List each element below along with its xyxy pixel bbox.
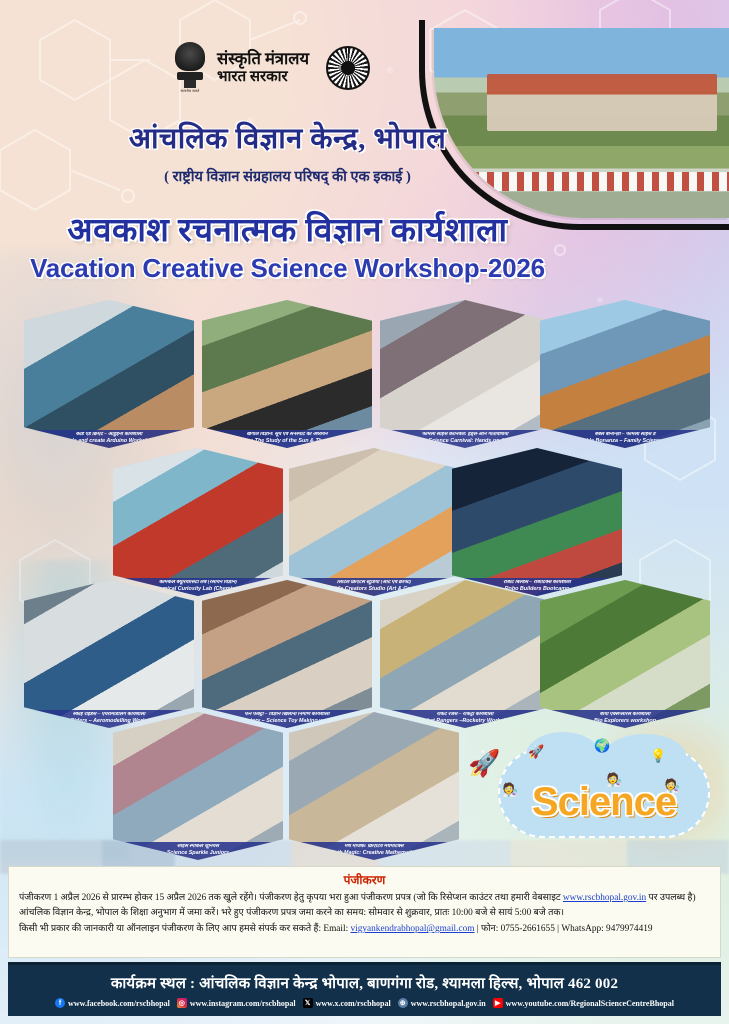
workshop-tile[interactable]: फैमिली साइंस कार्निवल: हैंड्स-ऑन गतिविधि… [380,300,550,448]
social-link-website[interactable]: ⊕ www.rscbhopal.gov.in [398,998,486,1008]
workshop-tile[interactable]: कोड एंड क्रिएट – आर्डुइनो कार्यशाला Code… [24,300,194,448]
facebook-url: www.facebook.com/rscbhopal [68,999,170,1008]
rocket-icon: 🚀 [468,748,500,779]
youtube-url: www.youtube.com/RegionalScienceCentreBho… [506,999,674,1008]
facebook-icon: f [55,998,65,1008]
workshop-tile[interactable]: मैथ मैजिक: क्रिएटिव मैथमेटिक्स Math Magi… [289,712,459,860]
whatsapp-label: WhatsApp: 9479974419 [561,924,652,934]
workshop-tile[interactable]: लिटिल क्रिएटर्स स्टूडियो (आर्ट एवं क्राफ… [289,448,459,596]
scientist-kid-icon: 🧑‍🔬 [502,782,518,798]
scientist-kid-icon: 🧑‍🔬 [664,778,680,794]
poster-footer: कार्यक्रम स्थल : आंचलिक विज्ञान केन्द्र … [8,962,721,1016]
ministry-branding: सत्यमेव जयते संस्कृति मंत्रालय भारत सरका… [172,42,370,94]
poster-header: सत्यमेव जयते संस्कृति मंत्रालय भारत सरका… [0,0,729,300]
workshop-tile[interactable]: रोबोट बिल्डर्स – रोबोटिक्स कार्यशाला Rob… [452,448,622,596]
workshop-tile[interactable]: केमिकल क्यूरियोसिटी लैब (रसायन विज्ञान) … [113,448,283,596]
workshop-caption-english: Bio Explorers workshop [544,718,706,724]
workshop-caption-english: Family Science Carnival: Hands on Activi… [384,438,546,444]
workshop-caption-english: Science Sparkle Juniors [117,850,279,856]
rocket-icon: 🚀 [528,744,544,760]
registration-paragraph-2: किसी भी प्रकार की जानकारी या ऑनलाइन पंजी… [19,922,710,937]
workshop-title-english: Vacation Creative Science Workshop-2026 [0,253,575,284]
workshop-caption-hindi: कोड एंड क्रिएट – आर्डुइनो कार्यशाला [28,432,190,438]
workshop-caption-hindi: मैथ मैजिक: क्रिएटिव मैथमेटिक्स [293,844,455,850]
website-globe-icon: ⊕ [398,998,408,1008]
x-twitter-icon: 𝕏 [303,998,313,1008]
workshop-caption-english: Astronomy: The Study of the Sun & The Su… [206,438,368,444]
registration-text-1a: पंजीकरण 1 अप्रैल 2026 से प्रारम्भ होकर 1… [19,893,563,903]
workshop-tile[interactable]: स्काई राइडर्स – एयरोमॉडलिंग कार्यशाला Sk… [24,580,194,728]
workshop-tile[interactable]: फन फैक्ट्री – विज्ञान खिलौना निर्माण कार… [202,580,372,728]
social-link-x[interactable]: 𝕏 www.x.com/rscbhopal [303,998,391,1008]
instagram-url: www.instagram.com/rscbhopal [190,999,296,1008]
centre-subtitle-hindi: ( राष्ट्रीय विज्ञान संग्रहालय परिषद् की … [0,166,575,186]
workshop-caption-english: Math Magic: Creative Mathematics [293,850,455,856]
ncsm-chakra-logo-icon [326,46,370,90]
registration-paragraph-1: पंजीकरण 1 अप्रैल 2026 से प्रारम्भ होकर 1… [19,891,710,921]
workshop-tile[interactable]: खगोल विज्ञान: सूर्य एवं सनस्पॉट का अध्यय… [202,300,372,448]
workshop-caption-hindi: बायो एक्सप्लोरर्स कार्यशाला [544,712,706,718]
social-link-instagram[interactable]: ◎ www.instagram.com/rscbhopal [177,998,296,1008]
emblem-motto: सत्यमेव जयते [181,89,200,94]
social-link-youtube[interactable]: ▶ www.youtube.com/RegionalScienceCentreB… [493,998,674,1008]
phone-label: फोन: 0755-2661655 [481,924,555,934]
centre-name-hindi: आंचलिक विज्ञान केन्द्र, भोपाल [0,118,575,157]
scientist-kid-icon: 🧑‍🔬 [606,772,622,788]
workshop-tile[interactable]: साइंस स्पार्कल जूनियर्स Science Sparkle … [113,712,283,860]
government-of-india-hindi: भारत सरकार [217,69,309,86]
ministry-name-hindi: संस्कृति मंत्रालय [217,50,309,68]
website-url: www.rscbhopal.gov.in [411,999,486,1008]
x-url: www.x.com/rscbhopal [316,999,391,1008]
workshop-tile[interactable]: बबल बोनान्ज़ा – फैमिली साइंस डे Bubble B… [540,300,710,448]
workshop-tile[interactable]: रॉकेट रेंजर्स – रॉकेट्री कार्यशाला Rocke… [380,580,550,728]
registration-text-2a: किसी भी प्रकार की जानकारी या ऑनलाइन पंजी… [19,924,351,934]
youtube-icon: ▶ [493,998,503,1008]
india-state-emblem-icon: सत्यमेव जयते [172,42,208,94]
social-links-row: f www.facebook.com/rscbhopal ◎ www.insta… [55,998,674,1008]
venue-address: कार्यक्रम स्थल : आंचलिक विज्ञान केन्द्र … [111,973,618,993]
lightbulb-icon: 💡 [650,748,666,764]
email-link[interactable]: vigyankendrabhopal@gmail.com [351,924,475,934]
workshop-caption-hindi: फैमिली साइंस कार्निवल: हैंड्स-ऑन गतिविधि… [384,432,546,438]
workshop-caption-hindi: बबल बोनान्ज़ा – फैमिली साइंस डे [544,432,706,438]
social-link-facebook[interactable]: f www.facebook.com/rscbhopal [55,998,170,1008]
workshop-caption-hindi: साइंस स्पार्कल जूनियर्स [117,844,279,850]
poster-root: सत्यमेव जयते संस्कृति मंत्रालय भारत सरका… [0,0,729,1024]
registration-section: पंजीकरण पंजीकरण 1 अप्रैल 2026 से प्रारम्… [8,866,721,958]
workshop-caption-hindi: खगोल विज्ञान: सूर्य एवं सनस्पॉट का अध्यय… [206,432,368,438]
registration-heading: पंजीकरण [19,871,710,888]
globe-icon: 🌍 [594,738,610,754]
science-logo: 🚀 🌍 💡 🧑‍🔬 🧑‍🔬 🧑‍🔬 Science [498,742,710,846]
workshop-caption-english: Bubble Bonanza – Family Science Day [544,438,706,444]
workshop-caption-english: Code and create Arduino Workshop [28,438,190,444]
instagram-icon: ◎ [177,998,187,1008]
website-link[interactable]: www.rscbhopal.gov.in [563,893,646,903]
workshop-title-hindi: अवकाश रचनात्मक विज्ञान कार्यशाला [0,206,575,251]
workshop-tile[interactable]: बायो एक्सप्लोरर्स कार्यशाला Bio Explorer… [540,580,710,728]
